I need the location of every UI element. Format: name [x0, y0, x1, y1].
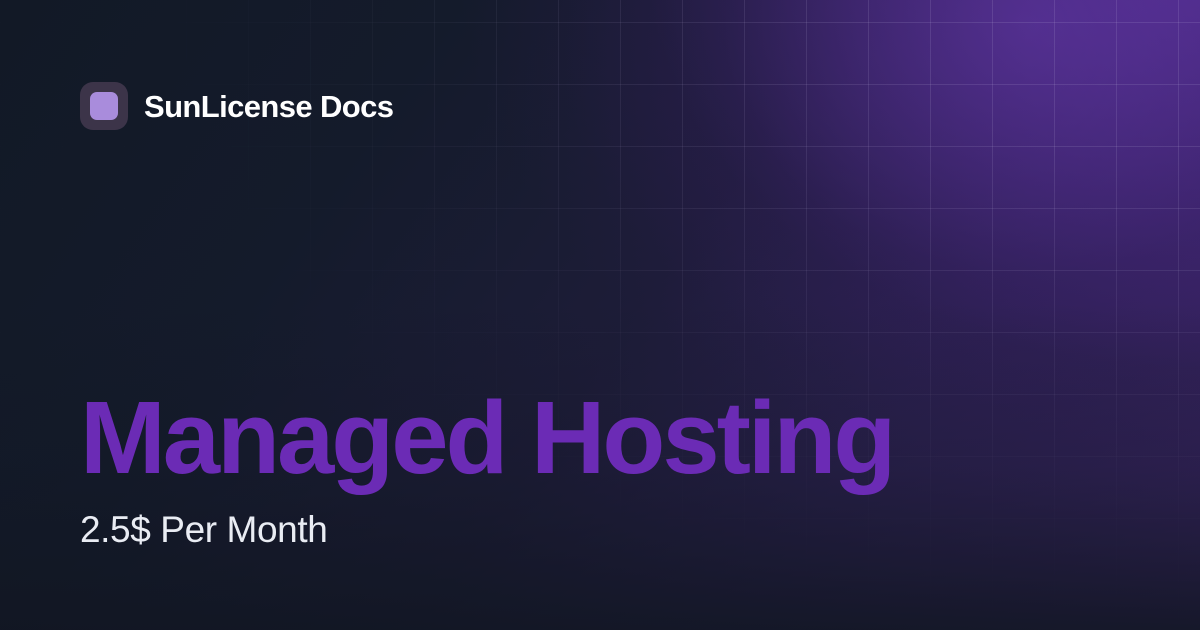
page-title: Managed Hosting [80, 386, 893, 489]
brand-name-label: SunLicense Docs [144, 91, 393, 122]
og-preview-card: SunLicense Docs Managed Hosting 2.5$ Per… [0, 0, 1200, 630]
brand-logo-icon [80, 82, 128, 130]
page-subtitle: 2.5$ Per Month [80, 509, 893, 552]
hero-section: Managed Hosting 2.5$ Per Month [80, 386, 893, 552]
brand-logo-inner-square-icon [90, 92, 118, 120]
brand-header: SunLicense Docs [80, 82, 393, 130]
